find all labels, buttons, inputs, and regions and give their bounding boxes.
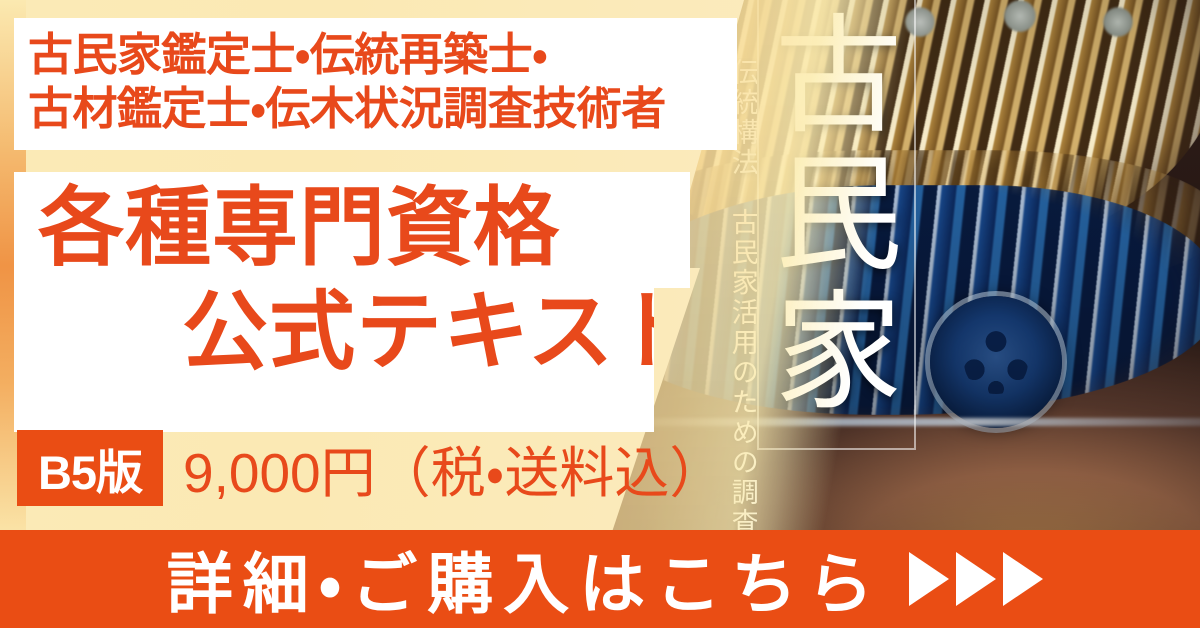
- cta-button-bar[interactable]: 詳細・ご購入はこちら: [0, 530, 1200, 628]
- qualifications-panel: 古民家鑑定士・伝統再築士・ 古材鑑定士・伝木状況調査技術者: [14, 18, 737, 150]
- price-row: B5版 9,000円（税・送料込）: [17, 430, 724, 506]
- price-text: 9,000円（税・送料込）: [183, 428, 724, 508]
- headline-line-2: 公式テキスト: [182, 282, 701, 383]
- headline-line-1: 各種専門資格: [38, 178, 560, 279]
- right-triangle-icon-2: [956, 552, 996, 606]
- format-badge-b5: B5版: [17, 430, 163, 506]
- cta-label: 詳細・ご購入はこちら: [157, 531, 883, 627]
- right-triangle-icon-1: [909, 552, 949, 606]
- qualifications-line-2: 古材鑑定士・伝木状況調査技術者: [28, 80, 733, 139]
- promo-banner: 古民家 伝統構法 古民家活用のための調査と再生の 古民家鑑定士・伝統再築士・ 古…: [0, 0, 1200, 628]
- triple-right-triangle-icon: [909, 552, 1043, 606]
- qualifications-line-1: 古民家鑑定士・伝統再築士・: [28, 26, 733, 85]
- headline-panel: 各種専門資格 公式テキスト: [14, 172, 690, 432]
- right-triangle-icon-3: [1003, 552, 1043, 606]
